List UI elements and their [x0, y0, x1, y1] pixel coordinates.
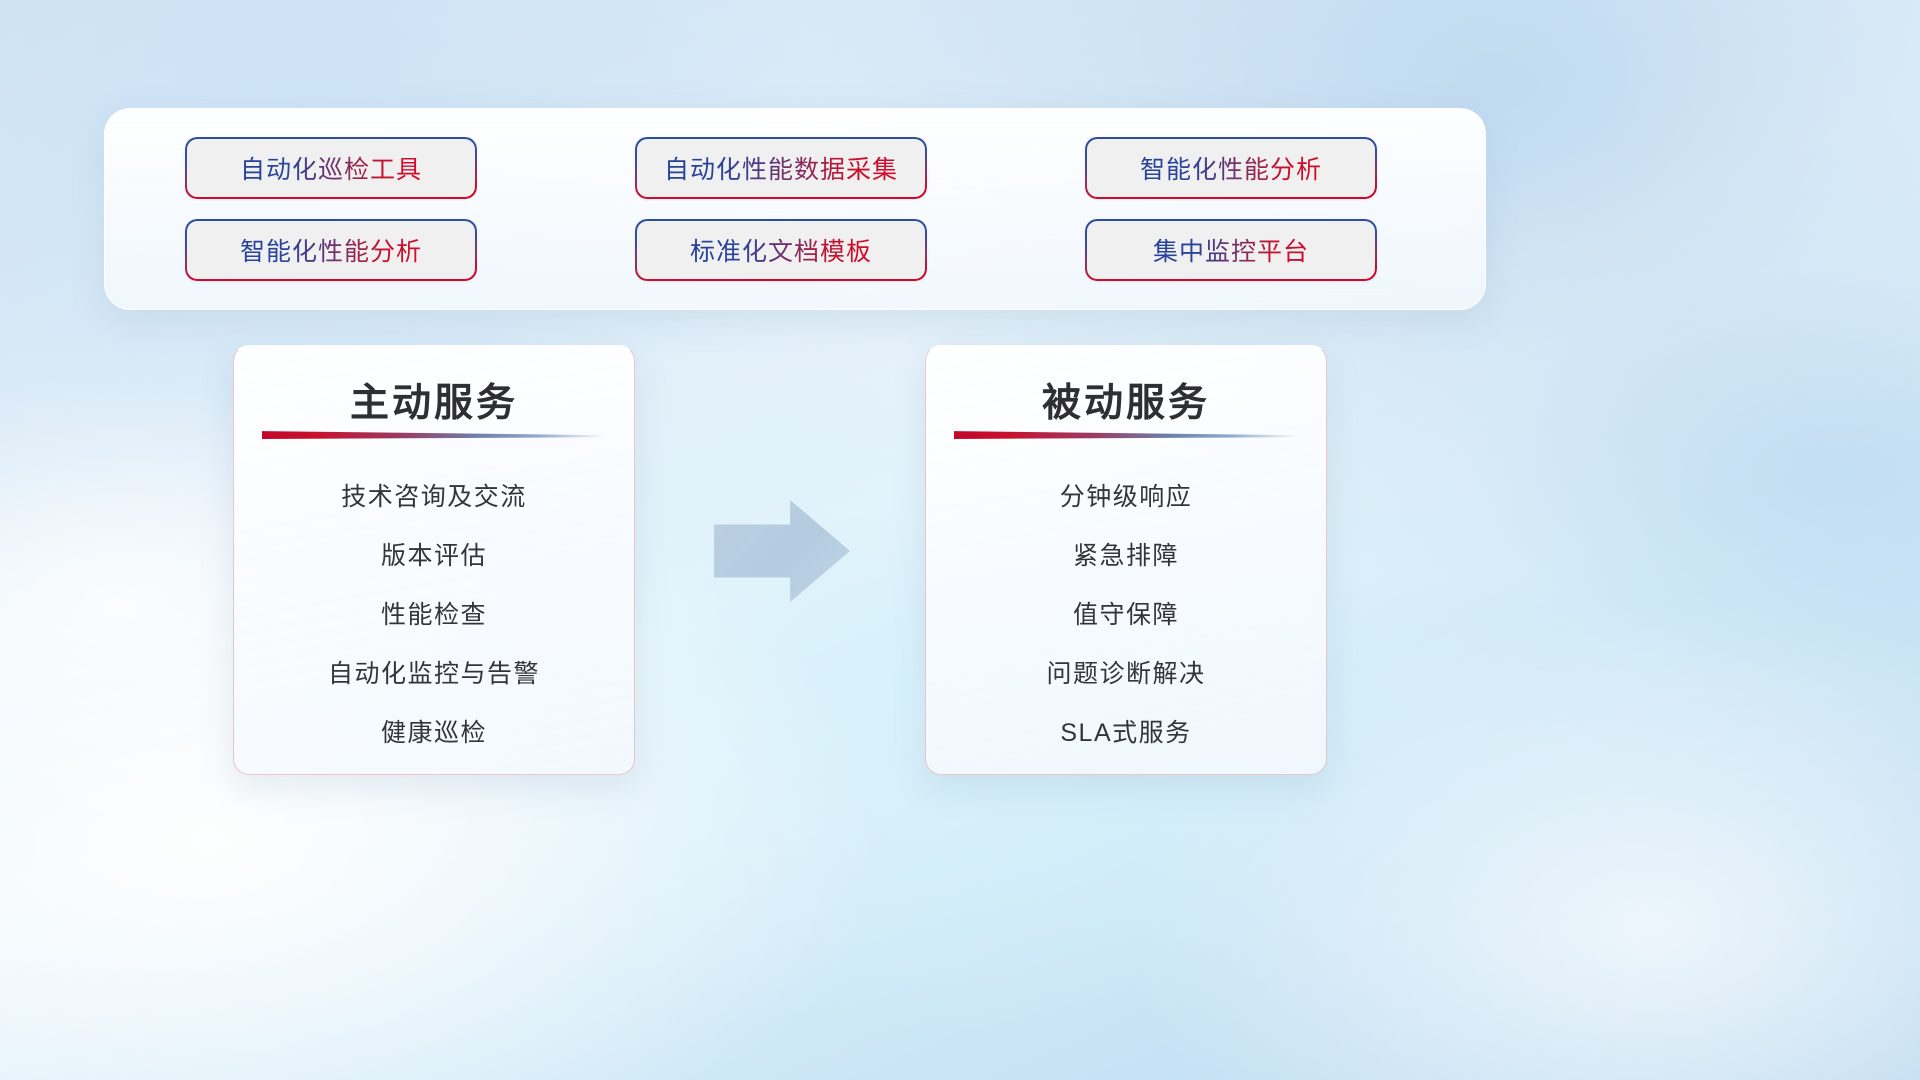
title-divider — [954, 430, 1298, 439]
capability-pill[interactable]: 智能化性能分析 — [185, 219, 477, 281]
capability-pill[interactable]: 标准化文档模板 — [635, 219, 927, 281]
capability-pill-label: 智能化性能分析 — [240, 232, 422, 268]
service-list-item: 技术咨询及交流 — [341, 468, 527, 527]
capability-pill-label: 标准化文档模板 — [690, 232, 872, 268]
capability-panel: 自动化巡检工具 自动化性能数据采集 智能化性能分析 智能化性能分析 标准化文档模… — [104, 108, 1486, 310]
service-list-item: 值守保障 — [1073, 586, 1179, 645]
service-card-title: 被动服务 — [926, 372, 1326, 428]
capability-pill[interactable]: 集中监控平台 — [1085, 219, 1377, 281]
service-list-item: 自动化监控与告警 — [328, 645, 540, 704]
service-list-item: 版本评估 — [381, 527, 487, 586]
service-card-reactive: 被动服务 分钟级响应 紧急排障 值守保障 问题诊断解决 SLA式服务 — [925, 345, 1327, 775]
service-card-title: 主动服务 — [234, 372, 634, 428]
capability-pill-grid: 自动化巡检工具 自动化性能数据采集 智能化性能分析 智能化性能分析 标准化文档模… — [185, 137, 1407, 281]
capability-pill[interactable]: 自动化性能数据采集 — [635, 137, 927, 199]
service-item-list: 技术咨询及交流 版本评估 性能检查 自动化监控与告警 健康巡检 — [234, 468, 634, 763]
service-list-item: 分钟级响应 — [1060, 468, 1193, 527]
capability-pill-label: 自动化巡检工具 — [240, 150, 422, 186]
capability-pill[interactable]: 智能化性能分析 — [1085, 137, 1377, 199]
service-list-item: 性能检查 — [381, 586, 487, 645]
capability-pill-label: 智能化性能分析 — [1140, 150, 1322, 186]
capability-pill[interactable]: 自动化巡检工具 — [185, 137, 477, 199]
service-list-item: 健康巡检 — [381, 704, 487, 763]
service-item-list: 分钟级响应 紧急排障 值守保障 问题诊断解决 SLA式服务 — [926, 468, 1326, 763]
service-list-item: 紧急排障 — [1073, 527, 1179, 586]
right-arrow-icon — [714, 500, 850, 602]
capability-pill-label: 集中监控平台 — [1153, 232, 1309, 268]
service-list-item: SLA式服务 — [1060, 704, 1191, 763]
title-divider — [262, 430, 606, 439]
service-list-item: 问题诊断解决 — [1046, 645, 1205, 704]
capability-pill-label: 自动化性能数据采集 — [664, 150, 898, 186]
service-card-proactive: 主动服务 技术咨询及交流 版本评估 性能检查 自动化监控与告警 健康巡检 — [233, 345, 635, 775]
infographic-stage: 自动化巡检工具 自动化性能数据采集 智能化性能分析 智能化性能分析 标准化文档模… — [0, 0, 1920, 1080]
